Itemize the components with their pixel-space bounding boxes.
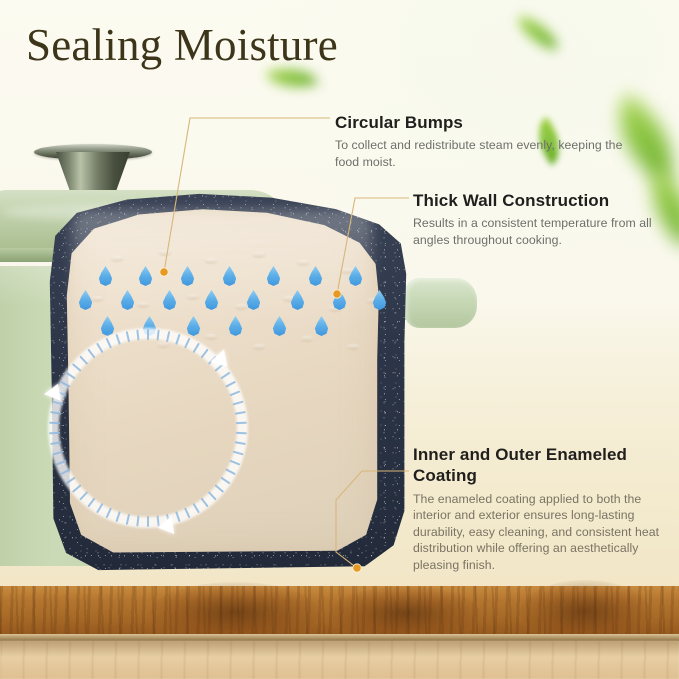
infographic-canvas: Sealing Moisture bbox=[0, 0, 679, 679]
callout-body: To collect and redistribute steam evenly… bbox=[335, 137, 625, 170]
callout-body: Results in a consistent temperature from… bbox=[413, 215, 658, 248]
callout-body: The enameled coating applied to both the… bbox=[413, 491, 663, 574]
callout-heading: Thick Wall Construction bbox=[413, 190, 658, 211]
callout-heading: Inner and Outer Enameled Coating bbox=[413, 444, 663, 487]
leader-line-enameled-coating bbox=[0, 0, 679, 679]
countertop-edge bbox=[0, 634, 679, 641]
callout-heading: Circular Bumps bbox=[335, 112, 625, 133]
floor-shadow bbox=[0, 641, 679, 657]
wooden-countertop bbox=[0, 586, 679, 638]
callout-circular-bumps: Circular Bumps To collect and redistribu… bbox=[335, 112, 625, 170]
callout-inner-and-outer-enameled-coating: Inner and Outer Enameled Coating The ena… bbox=[413, 444, 663, 573]
callout-thick-wall-construction: Thick Wall Construction Results in a con… bbox=[413, 190, 658, 248]
